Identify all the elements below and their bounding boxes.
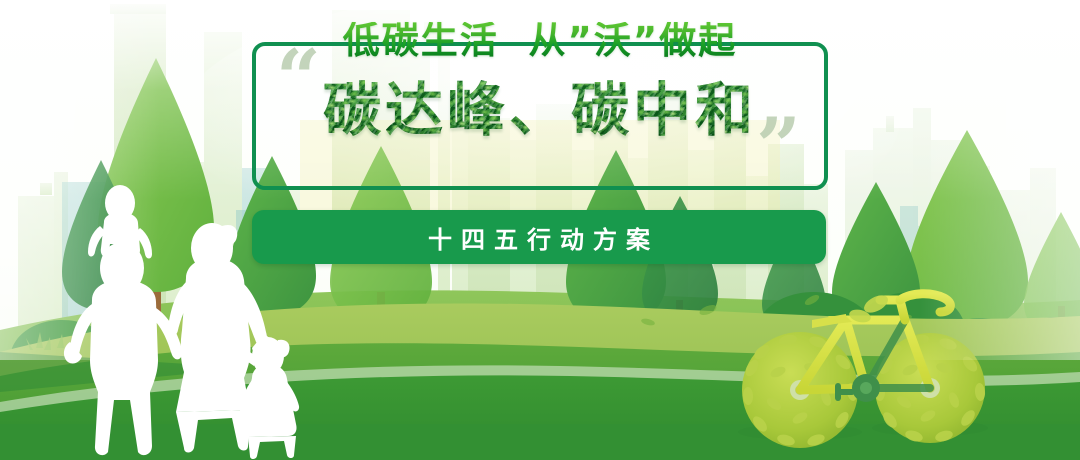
poster-root: “ ” 低碳生活 从”沃”做起 低碳生活 从”沃”做起 碳达峰、碳中和 碳达峰、… bbox=[0, 0, 1080, 460]
vignette-top bbox=[0, 0, 1080, 200]
vignette-right bbox=[920, 0, 1080, 360]
vignette-left bbox=[0, 0, 160, 360]
scene-illustration bbox=[0, 0, 1080, 460]
